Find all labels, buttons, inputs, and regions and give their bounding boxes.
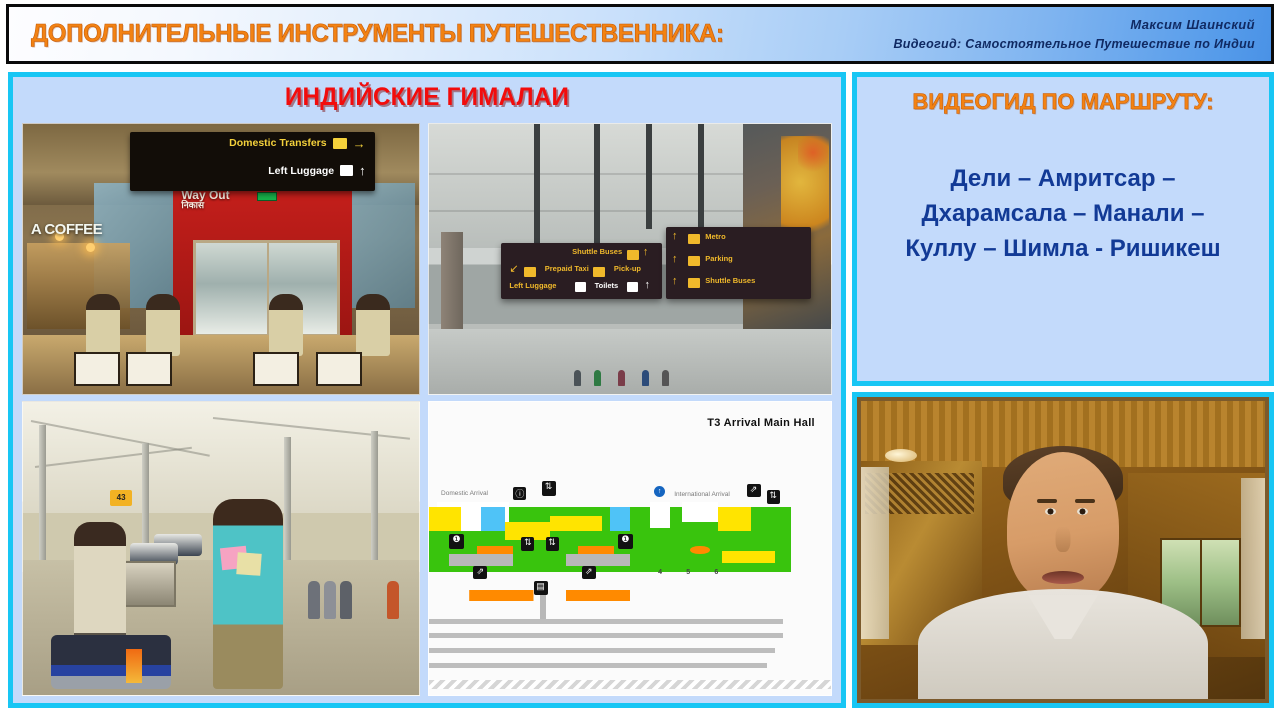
arrow-right-icon: → [353, 137, 366, 150]
author-name: Максим Шаинский [893, 16, 1255, 35]
map-walkway [566, 554, 630, 566]
escalator-icon: ⇗ [582, 566, 596, 579]
sign-label-parking: Parking [705, 254, 733, 263]
map-service-block [610, 507, 630, 530]
left-panel-title: ИНДИЙСКИЕ ГИМАЛАИ [25, 83, 828, 112]
mural-pattern [798, 128, 828, 177]
luggage-icon [575, 282, 586, 292]
luggage-trolley [51, 635, 171, 689]
luggage-strap [126, 649, 142, 683]
information-icon: ⓘ [513, 487, 526, 500]
arrow-up-icon: ↑ [359, 164, 366, 177]
slide-root: ДОПОЛНИТЕЛЬНЫЕ ИНСТРУМЕНТЫ ПУТЕШЕСТВЕННИ… [0, 0, 1280, 720]
way-out-hindi: निकास [181, 201, 229, 210]
photo-t3-arrival-map: T3 Arrival Main Hall Domestic Arrival ↑ … [428, 401, 832, 696]
map-exit-number: 6 [714, 569, 718, 576]
sign-label-shuttle-buses: Shuttle Buses [572, 247, 622, 256]
arrow-down-left-icon: ↙ [509, 264, 518, 275]
person [269, 294, 303, 356]
route-line: Куллу – Шимла - Ришикеш [871, 231, 1255, 266]
curtain [1241, 478, 1265, 639]
map-connector [540, 595, 546, 618]
photo-airport-hanging-signs: Shuttle Buses ↑ ↙ Prepaid Taxi Pick-up L… [428, 123, 832, 395]
person [146, 294, 180, 356]
person [594, 370, 601, 386]
route-panel-title: ВИДЕОГИД ПО МАРШРУТУ: [857, 89, 1269, 115]
sign-pole [534, 124, 540, 248]
map-exit-number: 5 [686, 569, 690, 576]
escalator-icon: ⇗ [747, 484, 761, 497]
left-content-panel: ИНДИЙСКИЕ ГИМАЛАИ Way Out निकास A COFFEE [8, 72, 846, 708]
name-placard [253, 352, 299, 386]
photo-airport-arrivals-signs: Way Out निकास A COFFEE Domestic Transfer… [22, 123, 420, 395]
route-panel: ВИДЕОГИД ПО МАРШРУТУ: Дели – Амритсар – … [852, 72, 1274, 386]
bus-icon [627, 250, 639, 260]
map-walkway [449, 554, 513, 566]
sign-pole [698, 124, 704, 229]
coffee-shop-sign: A COFFEE [31, 221, 102, 238]
glass-wall-right [352, 183, 415, 307]
toilet-icon [627, 282, 638, 292]
support-column [371, 431, 378, 566]
person [387, 581, 399, 619]
sign-row-domestic-transfers: Domestic Transfers → [145, 137, 366, 150]
elevator-icon: ⇅ [542, 481, 556, 496]
video-frame[interactable] [861, 401, 1265, 699]
metro-icon [688, 234, 700, 244]
train-icon: ▤ [534, 581, 548, 595]
arrow-up-icon: ↑ [672, 254, 678, 265]
mouth [1042, 571, 1084, 584]
map-room-block [650, 502, 670, 528]
luggage-icon [340, 165, 353, 176]
presenter-video-panel[interactable] [852, 392, 1274, 708]
traveller-person [213, 499, 283, 689]
map-roadway-lane [429, 663, 767, 668]
name-placard [126, 352, 172, 386]
person [324, 581, 336, 619]
structural-pillar [441, 232, 463, 335]
map-direction-arrow-left [566, 590, 630, 602]
map-kerb-pattern [429, 680, 831, 689]
arrow-up-icon: ↑ [643, 247, 649, 258]
curtain [861, 467, 889, 640]
map-counter-block [718, 507, 750, 530]
map-direction-arrow-right [469, 590, 533, 602]
map-seating-block [477, 546, 513, 555]
name-placard [316, 352, 362, 386]
elevator-icon: ⇅ [767, 490, 780, 504]
map-room-block [682, 502, 718, 523]
sign-label: Left Luggage [268, 165, 334, 177]
header-credits: Максим Шаинский Видеогид: Самостоятельно… [893, 16, 1255, 53]
map-counter-block [429, 507, 461, 530]
signboard-right: ↑ Metro ↑ Parking ↑ Shuttle Buses [666, 227, 811, 300]
videoguide-subtitle: Видеогид: Самостоятельное Путешествие по… [893, 35, 1255, 53]
person [618, 370, 625, 386]
exit-door [193, 240, 340, 337]
nose [1056, 526, 1071, 552]
photo-grid: Way Out निकास A COFFEE Domestic Transfer… [22, 123, 832, 696]
exit-sign-icon [257, 192, 277, 201]
arrow-up-icon: ↑ [672, 231, 678, 242]
name-placard [74, 352, 120, 386]
arrow-up-icon: ↑ [644, 280, 650, 291]
overhead-signboard: Domestic Transfers → Left Luggage ↑ [130, 132, 376, 191]
baggage-cart [122, 561, 176, 607]
map-counter-block [550, 516, 602, 531]
international-arrival-marker-icon: ↑ [654, 486, 665, 497]
photo-airport-forecourt-trolley: 43 [22, 401, 420, 696]
pickup-icon [593, 267, 605, 277]
map-roadway-lane [429, 633, 783, 638]
elevator-icon: ⇅ [546, 537, 559, 551]
page-title: ДОПОЛНИТЕЛЬНЫЕ ИНСТРУМЕНТЫ ПУТЕШЕСТВЕННИ… [31, 20, 724, 49]
sign-label-toilets: Toilets [595, 281, 619, 290]
support-column [284, 437, 291, 566]
person [308, 581, 320, 619]
slide-header: ДОПОЛНИТЕЛЬНЫЕ ИНСТРУМЕНТЫ ПУТЕШЕСТВЕННИ… [6, 4, 1274, 64]
bay-number-sign: 43 [110, 490, 132, 506]
route-line: Дхарамсала – Манали – [871, 196, 1255, 231]
taxi-icon [524, 267, 536, 277]
map-roadway-lane [429, 619, 783, 624]
signboard-left: Shuttle Buses ↑ ↙ Prepaid Taxi Pick-up L… [501, 243, 662, 300]
person [662, 370, 669, 386]
eyebrow [1037, 499, 1057, 503]
sign-row-left-luggage: Left Luggage ↑ [145, 164, 366, 177]
person [340, 581, 352, 619]
map-label-domestic-arrival: Domestic Arrival [441, 490, 488, 497]
parking-icon [688, 256, 700, 266]
sign-label-shuttle-buses: Shuttle Buses [705, 276, 755, 285]
person [642, 370, 649, 386]
sign-pole [646, 124, 652, 229]
bus-icon [688, 278, 700, 288]
map-label-international-arrival: International Arrival [674, 491, 730, 498]
sign-pole [594, 124, 600, 246]
elevator-icon: ⇅ [521, 537, 534, 551]
sign-label-left-luggage: Left Luggage [509, 281, 556, 290]
way-out-sign: Way Out निकास [181, 189, 229, 211]
sign-label: Domestic Transfers [229, 137, 326, 149]
map-counter-block [722, 551, 774, 563]
map-service-block [481, 507, 505, 530]
route-line: Дели – Амритсар – [871, 161, 1255, 196]
eyebrow [1075, 499, 1095, 503]
map-roadway-lane [429, 648, 775, 653]
person [86, 294, 120, 356]
sign-label-pickup: Pick-up [614, 264, 641, 273]
information-icon: ❶ [449, 534, 464, 549]
sign-label-prepaid-taxi: Prepaid Taxi [545, 264, 589, 273]
arrow-up-icon: ↑ [672, 276, 678, 287]
map-seating-block [578, 546, 614, 555]
route-text: Дели – Амритсар – Дхарамсала – Манали – … [871, 161, 1255, 266]
map-title: T3 Arrival Main Hall [707, 417, 815, 429]
information-icon: ❶ [618, 534, 633, 549]
escalator-icon: ⇗ [473, 566, 487, 579]
person [356, 294, 390, 356]
ceiling-lamp-icon [885, 449, 917, 462]
terminal-floor [429, 329, 831, 394]
ticket-paper [236, 552, 261, 576]
map-exit-number: 4 [658, 569, 662, 576]
person [574, 370, 581, 386]
sign-label-metro: Metro [705, 232, 725, 241]
plane-icon [333, 138, 347, 149]
